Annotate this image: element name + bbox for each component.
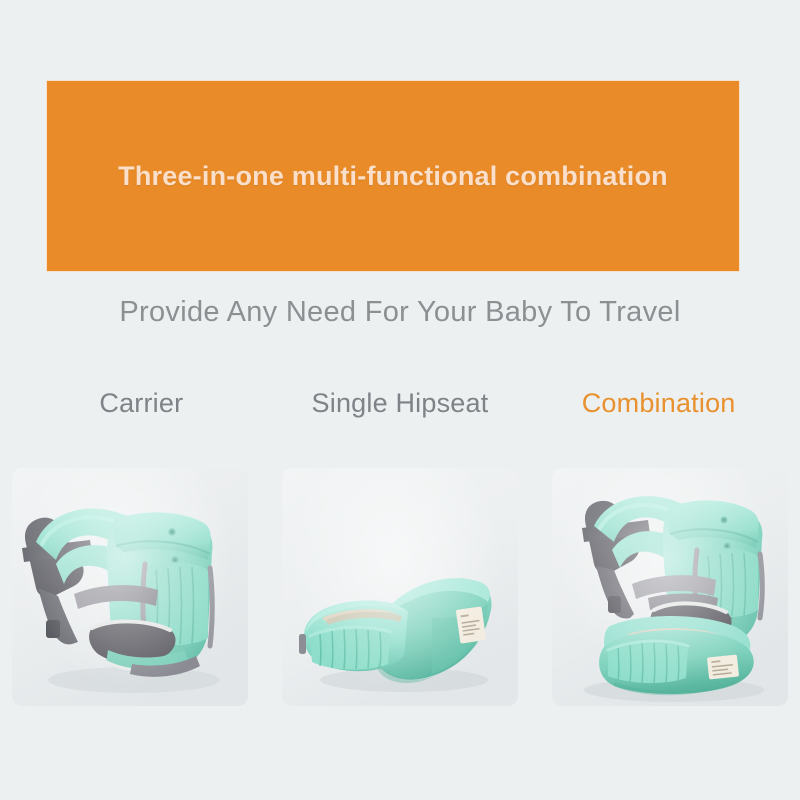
product-card-carrier[interactable] bbox=[12, 468, 248, 706]
product-card-single-hipseat[interactable] bbox=[282, 468, 518, 706]
headline-banner: Three-in-one multi-functional combinatio… bbox=[46, 80, 740, 272]
product-label-single-hipseat: Single Hipseat bbox=[271, 388, 530, 419]
baby-carrier-photo bbox=[12, 468, 248, 706]
hipseat-photo bbox=[282, 468, 518, 706]
product-card-combination[interactable] bbox=[552, 468, 788, 706]
subtitle-text: Provide Any Need For Your Baby To Travel bbox=[0, 296, 800, 329]
banner-headline-text: Three-in-one multi-functional combinatio… bbox=[118, 161, 668, 192]
product-photo-row bbox=[12, 468, 788, 706]
product-label-combination: Combination bbox=[529, 388, 788, 419]
product-label-row: Carrier Single Hipseat Combination bbox=[12, 388, 788, 419]
fabric-label-tag bbox=[456, 606, 486, 643]
product-label-carrier: Carrier bbox=[12, 388, 271, 419]
carrier-hipseat-combination-photo bbox=[552, 468, 788, 706]
fabric-label-tag bbox=[707, 654, 739, 679]
